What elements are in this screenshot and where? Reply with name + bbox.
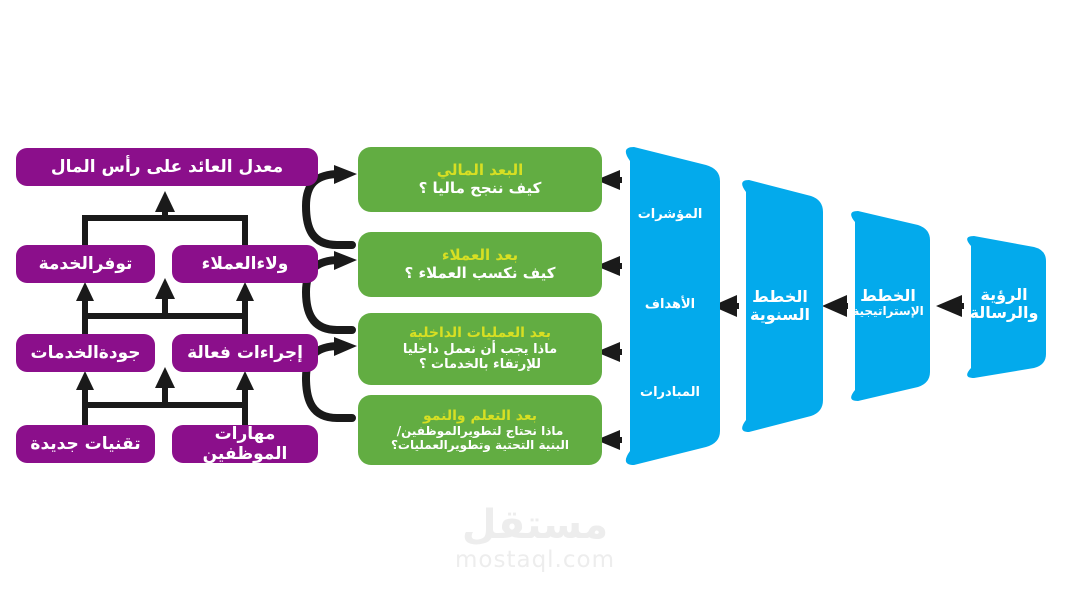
strategy-box-employee-skills[interactable]: مهارات الموظفين [172,425,318,463]
watermark-arabic: مستقل [462,505,608,545]
watermark: مستقل mostaql.com [0,505,1070,572]
perspective-title: بعد التعلم والنمو [423,408,537,425]
strategy-box-effective-procedures[interactable]: إجراءات فعالة [172,334,318,372]
perspective-title: بعد العمليات الداخلية [409,325,551,342]
strategy-box-label: معدل العائد على رأس المال [43,157,291,177]
funnel-shape-annual-plans[interactable]: الخطط السنوية [737,180,823,432]
strategy-box-label: تقنيات جديدة [22,434,148,454]
diagram-canvas: معدل العائد على رأس المال توفرالخدمة ولا… [0,0,1070,600]
funnel-shape-strategic-plans[interactable]: الخطط الإستراتيجية [846,211,930,401]
perspective-subtitle: كيف نكسب العملاء ؟ [405,265,556,283]
strategy-box-label: ولاءالعملاء [194,254,297,274]
perspective-box-learning-growth[interactable]: بعد التعلم والنمو ماذا نحتاج لتطويرالموظ… [358,395,602,465]
strategy-arrows-row4-row3 [85,378,245,425]
strategy-box-label: إجراءات فعالة [179,343,311,363]
watermark-latin: mostaql.com [455,549,615,572]
funnel-side-label-measures: المؤشرات [626,207,714,222]
perspective-title: بعد العملاء [442,247,518,265]
funnel-shape-path [737,180,823,432]
perspective-curved-arrowheads [334,165,357,356]
funnel-side-label-objectives: الأهداف [626,297,714,312]
strategy-box-label: مهارات الموظفين [172,424,318,464]
strategy-arrows-row2-row1 [85,200,245,245]
perspective-subtitle: كيف ننجح ماليا ؟ [419,180,542,198]
strategy-box-new-technologies[interactable]: تقنيات جديدة [16,425,155,463]
strategy-box-roce[interactable]: معدل العائد على رأس المال [16,148,318,186]
strategy-box-label: جودةالخدمات [23,343,149,363]
perspective-box-financial[interactable]: البعد المالي كيف ننجح ماليا ؟ [358,147,602,212]
funnel-shape-path [962,236,1046,378]
perspective-subtitle: ماذا نحتاج لتطويرالموظفين/ البنية التحتي… [391,424,569,452]
strategy-box-service-availability[interactable]: توفرالخدمة [16,245,155,283]
perspective-box-customer[interactable]: بعد العملاء كيف نكسب العملاء ؟ [358,232,602,297]
funnel-side-label-initiatives: المبادرات [626,385,714,400]
perspective-curved-arrows [306,174,352,418]
strategy-box-customer-loyalty[interactable]: ولاءالعملاء [172,245,318,283]
strategy-box-label: توفرالخدمة [31,254,141,274]
funnel-shape-vision-mission[interactable]: الرؤية والرسالة [962,236,1046,378]
funnel-shape-path [846,211,930,401]
perspective-box-internal-process[interactable]: بعد العمليات الداخلية ماذا يجب أن نعمل د… [358,313,602,385]
perspective-title: البعد المالي [437,162,524,180]
funnel-shape-measures[interactable]: المؤشرات الأهداف المبادرات [620,147,720,465]
perspective-subtitle: ماذا يجب أن نعمل داخليا للإرتقاء بالخدما… [403,342,557,373]
strategy-arrowheads-c [155,191,175,212]
strategy-arrows-row3-row2 [85,289,245,334]
strategy-box-service-quality[interactable]: جودةالخدمات [16,334,155,372]
